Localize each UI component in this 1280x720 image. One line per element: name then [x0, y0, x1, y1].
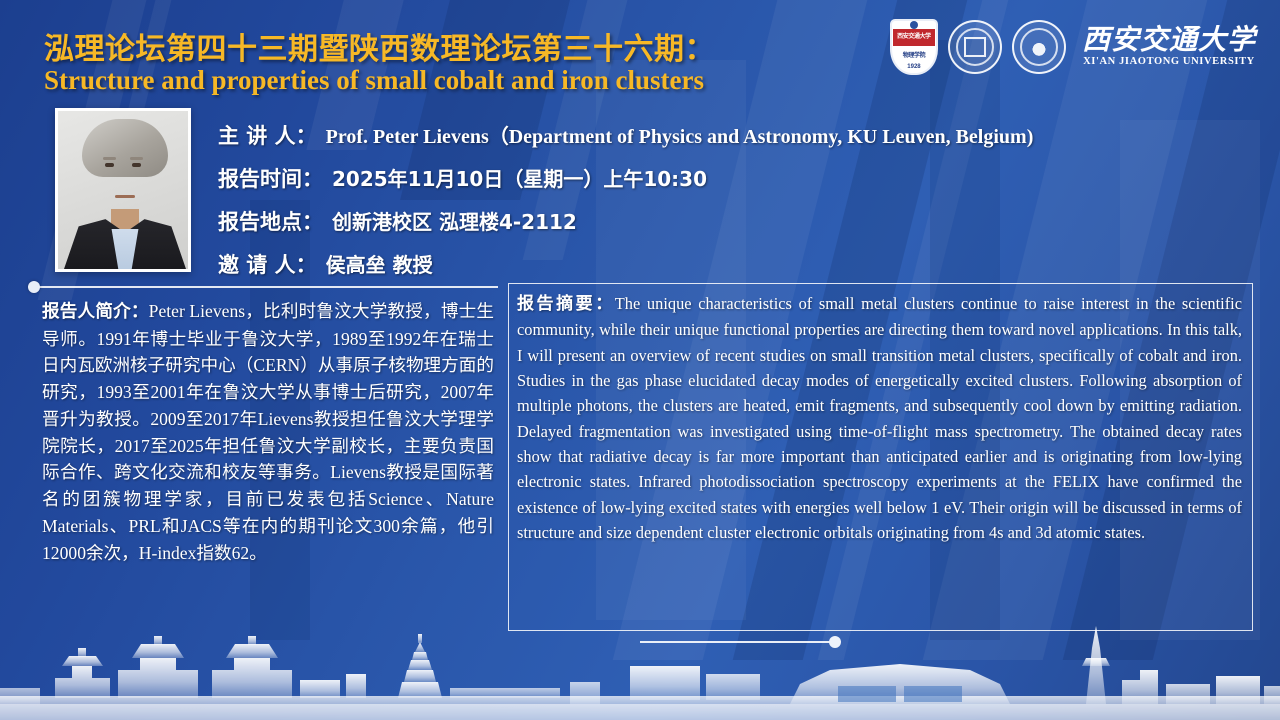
page-title-english: Structure and properties of small cobalt… [44, 65, 704, 96]
info-value-speaker: Prof. Peter Lievens（Department of Physic… [326, 120, 1034, 149]
speaker-portrait-photo [55, 108, 191, 272]
info-label-speaker: 主 讲 人： [218, 120, 317, 150]
bio-heading: 报告人简介： [42, 302, 149, 322]
abstract-text: 报告摘要：The unique characteristics of small… [517, 291, 1242, 545]
bio-body: Peter Lievens，比利时鲁汶大学教授，博士生导师。1991年博士毕业于… [42, 301, 494, 563]
page-title-chinese: 泓理论坛第四十三期暨陕西数理论坛第三十六期： [44, 24, 715, 68]
info-label-location: 报告地点： [218, 206, 323, 236]
event-info-block: 主 讲 人： Prof. Peter Lievens（Department of… [218, 120, 1248, 292]
shield-logo-line2: 物理学院 [890, 50, 938, 59]
xjtu-seal-logo [1012, 20, 1066, 74]
bio-text: 报告人简介：Peter Lievens，比利时鲁汶大学教授，博士生导师。1991… [42, 298, 494, 566]
info-value-datetime: 2025年11月10日（星期一）上午10:30 [332, 163, 707, 192]
info-label-datetime: 报告时间： [218, 163, 323, 193]
info-value-location: 创新港校区 泓理楼4-2112 [332, 206, 577, 235]
speaker-bio-panel: 报告人简介：Peter Lievens，比利时鲁汶大学教授，博士生导师。1991… [32, 286, 498, 626]
info-value-host: 侯高垒 教授 [326, 249, 433, 278]
logo-group: 西安交通大学 物理学院 1928 西安交通大学 XI'AN JIAOTONG U… [890, 16, 1256, 78]
shield-logo-year: 1928 [890, 64, 938, 70]
info-row-host: 邀 请 人： 侯高垒 教授 [218, 249, 1248, 279]
abstract-heading: 报告摘要： [517, 294, 615, 314]
institute-emblem-logo [948, 20, 1002, 74]
wordmark-chinese: 西安交通大学 [1082, 26, 1256, 54]
wordmark-english: XI'AN JIAOTONG UNIVERSITY [1083, 57, 1255, 68]
seminar-poster: 泓理论坛第四十三期暨陕西数理论坛第三十六期： Structure and pro… [0, 0, 1280, 720]
xjtu-school-shield-logo: 西安交通大学 物理学院 1928 [890, 19, 938, 75]
poster-header: 泓理论坛第四十三期暨陕西数理论坛第三十六期： Structure and pro… [0, 0, 1280, 104]
xian-city-skyline-silhouette [0, 608, 1280, 720]
bio-bullet-dot-icon [28, 281, 40, 293]
abstract-body: The unique characteristics of small meta… [517, 294, 1242, 542]
info-row-location: 报告地点： 创新港校区 泓理楼4-2112 [218, 206, 1248, 236]
xjtu-wordmark: 西安交通大学 XI'AN JIAOTONG UNIVERSITY [1082, 26, 1256, 68]
info-label-host: 邀 请 人： [218, 249, 317, 279]
info-row-datetime: 报告时间： 2025年11月10日（星期一）上午10:30 [218, 163, 1248, 193]
bio-divider-rule [32, 286, 498, 288]
shield-logo-line1: 西安交通大学 [890, 31, 938, 40]
abstract-panel: 报告摘要：The unique characteristics of small… [508, 283, 1253, 631]
info-row-speaker: 主 讲 人： Prof. Peter Lievens（Department of… [218, 120, 1248, 150]
